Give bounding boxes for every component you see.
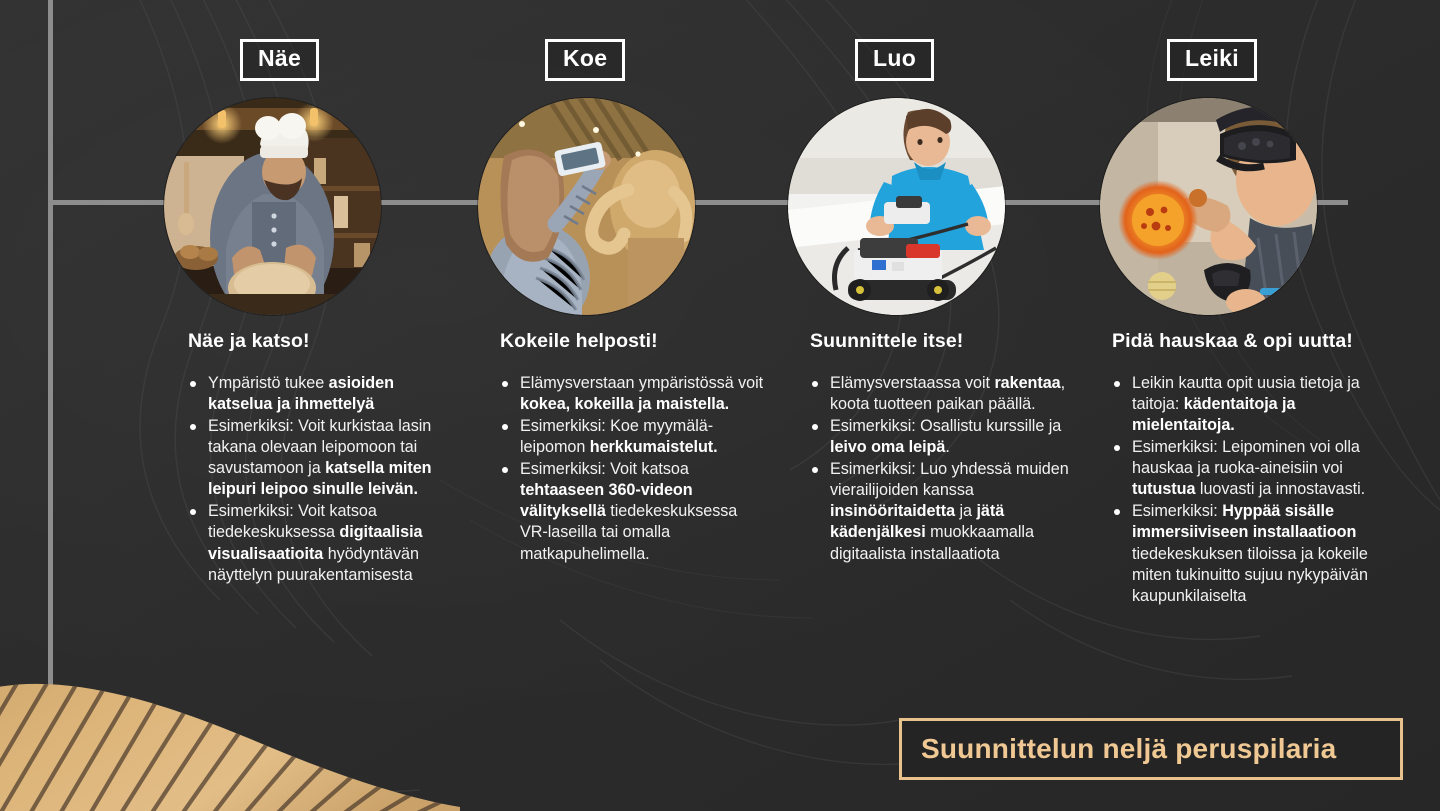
bullet-item: Esimerkiksi: Osallistu kurssille ja leiv… [810,416,1072,458]
bullet-emphasis: leivo oma leipä [830,438,945,456]
bullet-emphasis: herkkumaistelut. [590,438,718,456]
pillar-heading-nae: Näe ja katso! [188,330,310,353]
bullet-item: Esimerkiksi: Voit katsoa tehtaaseen 360-… [500,459,768,564]
pillar-heading-koe: Kokeile helposti! [500,330,658,353]
pillar-chip-luo[interactable]: Luo [855,39,934,81]
bullet-item: Esimerkiksi: Hyppää sisälle immersiivise… [1112,501,1402,606]
baker-kneading-dough-photo [164,98,381,315]
pillar-bullets-luo: Elämysverstaassa voit rakentaa, koota tu… [810,373,1072,566]
bullet-text: Elämysverstaassa voit [830,374,994,392]
pillar-bullets-koe: Elämysverstaan ympäristössä voit kokea, … [500,373,768,566]
pillar-bullets-leiki: Leikin kautta opit uusia tietoja ja tait… [1112,373,1402,608]
bullet-text: luovasti ja innostavasti. [1195,480,1365,498]
bullet-text: Ympäristö tukee [208,374,329,392]
pillars-container: Näe [0,0,1440,811]
bullet-item: Leikin kautta opit uusia tietoja ja tait… [1112,373,1402,436]
title-banner: Suunnittelun neljä peruspilaria [899,718,1403,780]
bullet-emphasis: insinööritaidetta [830,502,955,520]
visitor-photographing-mammoth-skeleton-photo [478,98,695,315]
bullet-text: Esimerkiksi: Luo yhdessä muiden vieraili… [830,460,1069,499]
bullet-item: Esimerkiksi: Leipominen voi olla hauskaa… [1112,437,1402,500]
bullet-item: Elämysverstaassa voit rakentaa, koota tu… [810,373,1072,415]
bullet-item: Esimerkiksi: Koe myymälä-leipomon herkku… [500,416,768,458]
bullet-text: Esimerkiksi: Voit katsoa [520,460,689,478]
bullet-text: ja [955,502,976,520]
bullet-emphasis: tutustua [1132,480,1195,498]
pillar-bullets-nae: Ympäristö tukee asioiden katselua ja ihm… [188,373,456,587]
boy-building-lego-robot-photo [788,98,1005,315]
bullet-text: Esimerkiksi: [1132,502,1222,520]
pillar-chip-nae[interactable]: Näe [240,39,319,81]
bullet-emphasis: kokea, kokeilla ja maistella. [520,395,729,413]
bullet-emphasis: rakentaa [994,374,1060,392]
title-banner-text: Suunnittelun neljä peruspilaria [902,733,1336,765]
bullet-item: Esimerkiksi: Luo yhdessä muiden vieraili… [810,459,1072,564]
bullet-text: Elämysverstaan ympäristössä voit [520,374,763,392]
pillar-heading-luo: Suunnittele itse! [810,330,963,353]
bullet-text: tiedekeskuksen tiloissa ja kokeile miten… [1132,545,1368,605]
bullet-item: Ympäristö tukee asioiden katselua ja ihm… [188,373,456,415]
bullet-item: Esimerkiksi: Voit kurkistaa lasin takana… [188,416,456,500]
bullet-text: . [945,438,949,456]
bullet-item: Elämysverstaan ympäristössä voit kokea, … [500,373,768,415]
pillar-chip-leiki[interactable]: Leiki [1167,39,1257,81]
bullet-text: Esimerkiksi: Leipominen voi olla hauskaa… [1132,438,1360,477]
pillar-chip-koe[interactable]: Koe [545,39,625,81]
bullet-item: Esimerkiksi: Voit katsoa tiedekeskuksess… [188,501,456,585]
pillar-heading-leiki: Pidä hauskaa & opi uutta! [1112,330,1353,353]
teen-wearing-vr-headset-photo [1100,98,1317,315]
bullet-text: Esimerkiksi: Osallistu kurssille ja [830,417,1061,435]
